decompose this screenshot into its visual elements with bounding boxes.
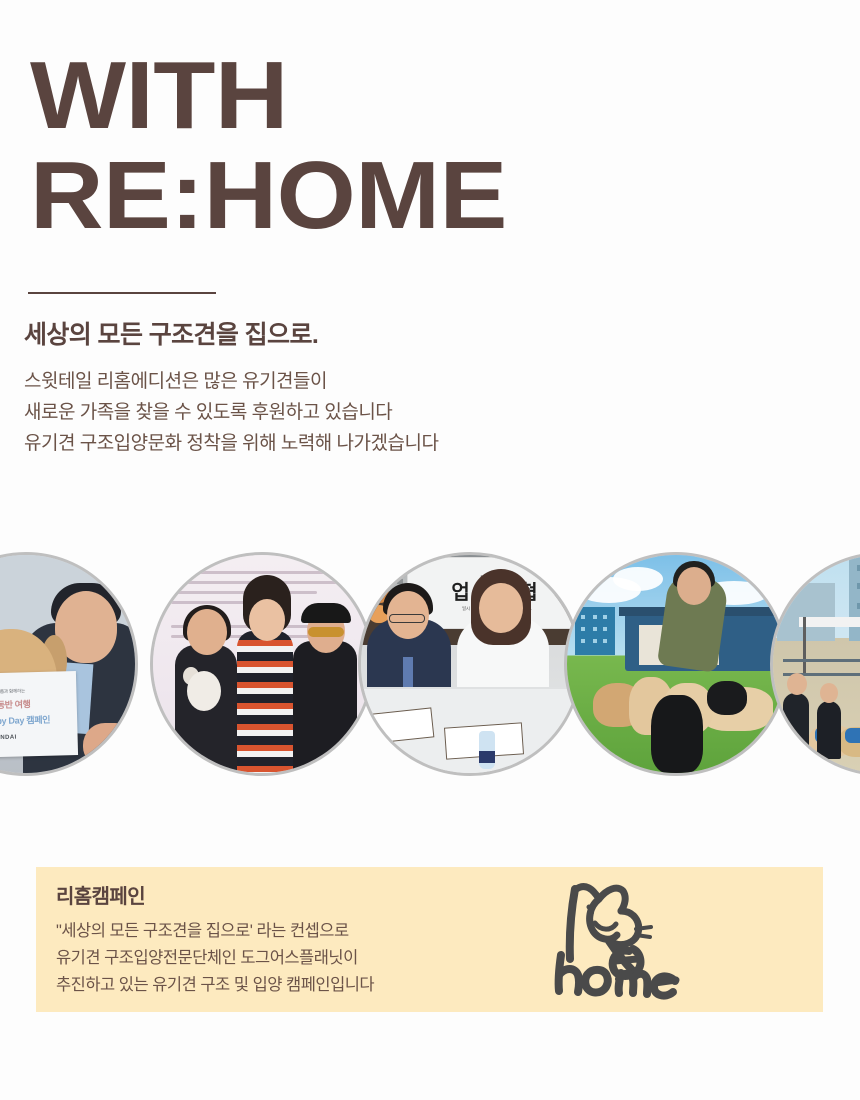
campaign-text-block: 리홈캠페인 "세상의 모든 구조견을 집으로' 라는 컨셉으로 유기견 구조입양… [36,880,517,998]
gallery-photo-hyundai-happy-puppy-day[interactable]: 현대자동차그룹과 함께하는 반려견 동반 여행 Happy Puppy Day … [0,552,138,776]
campaign-line-1: "세상의 모든 구조견을 집으로' 라는 컨셉으로 [56,918,517,945]
gallery-photo-mou-signing[interactable]: 도그어스플래닛 업 무 협 일시 : 2019. 00. 00 15:00 | … [358,552,582,776]
intro-block: 세상의 모든 구조견을 집으로. 스윗테일 리홈에디션은 많은 유기견들이 새로… [24,320,664,460]
intro-title: 세상의 모든 구조견을 집으로. [24,320,664,351]
hero-heading: WITH RE:HOME [30,52,730,241]
photo-scene: 현대자동차그룹과 함께하는 반려견 동반 여행 Happy Puppy Day … [0,555,135,773]
photo-scene: 도그어스플래닛 업 무 협 일시 : 2019. 00. 00 15:00 | … [361,555,579,773]
gallery-photo-photowall-three-people[interactable] [150,552,374,776]
hero-line-2: RE:HOME [30,152,772,240]
hero-line-1: WITH [30,52,772,140]
hyundai-campaign-sign: 현대자동차그룹과 함께하는 반려견 동반 여행 Happy Puppy Day … [0,671,78,759]
sign-line-1: 현대자동차그룹과 함께하는 [0,688,25,695]
photo-scene [153,555,371,773]
poster-page: WITH RE:HOME 세상의 모든 구조견을 집으로. 스윗테일 리홈에디션… [0,0,860,1100]
intro-body: 스윗테일 리홈에디션은 많은 유기견들이 새로운 가족을 찾을 수 있도록 후원… [24,367,664,460]
gallery-photo-outdoor-dog-event[interactable] [770,552,860,776]
intro-line-3: 유기견 구조입양문화 정착을 위해 노력해 나가겠습니다 [24,429,664,460]
gallery-photo-dogs-on-turf[interactable] [564,552,788,776]
sign-line-3: Happy Puppy Day 캠페인 [0,713,50,729]
photo-gallery: 현대자동차그룹과 함께하는 반려견 동반 여행 Happy Puppy Day … [0,552,860,784]
campaign-line-2: 유기견 구조입양전문단체인 도그어스플래닛이 [56,945,517,972]
hyundai-logo-text: HYUNDAI [0,735,17,742]
hero-divider [28,292,216,294]
rehome-logo [517,875,727,1005]
campaign-body: "세상의 모든 구조견을 집으로' 라는 컨셉으로 유기견 구조입양전문단체인 … [56,918,517,998]
photo-scene [567,555,785,773]
intro-line-2: 새로운 가족을 찾을 수 있도록 후원하고 있습니다 [24,398,664,429]
campaign-line-3: 추진하고 있는 유기견 구조 및 입양 캠페인입니다 [56,972,517,999]
sign-line-2: 반려견 동반 여행 [0,697,31,712]
campaign-info-box: 리홈캠페인 "세상의 모든 구조견을 집으로' 라는 컨셉으로 유기견 구조입양… [36,867,823,1012]
intro-line-1: 스윗테일 리홈에디션은 많은 유기견들이 [24,367,664,398]
photo-scene [773,555,860,773]
campaign-title: 리홈캠페인 [56,880,517,909]
